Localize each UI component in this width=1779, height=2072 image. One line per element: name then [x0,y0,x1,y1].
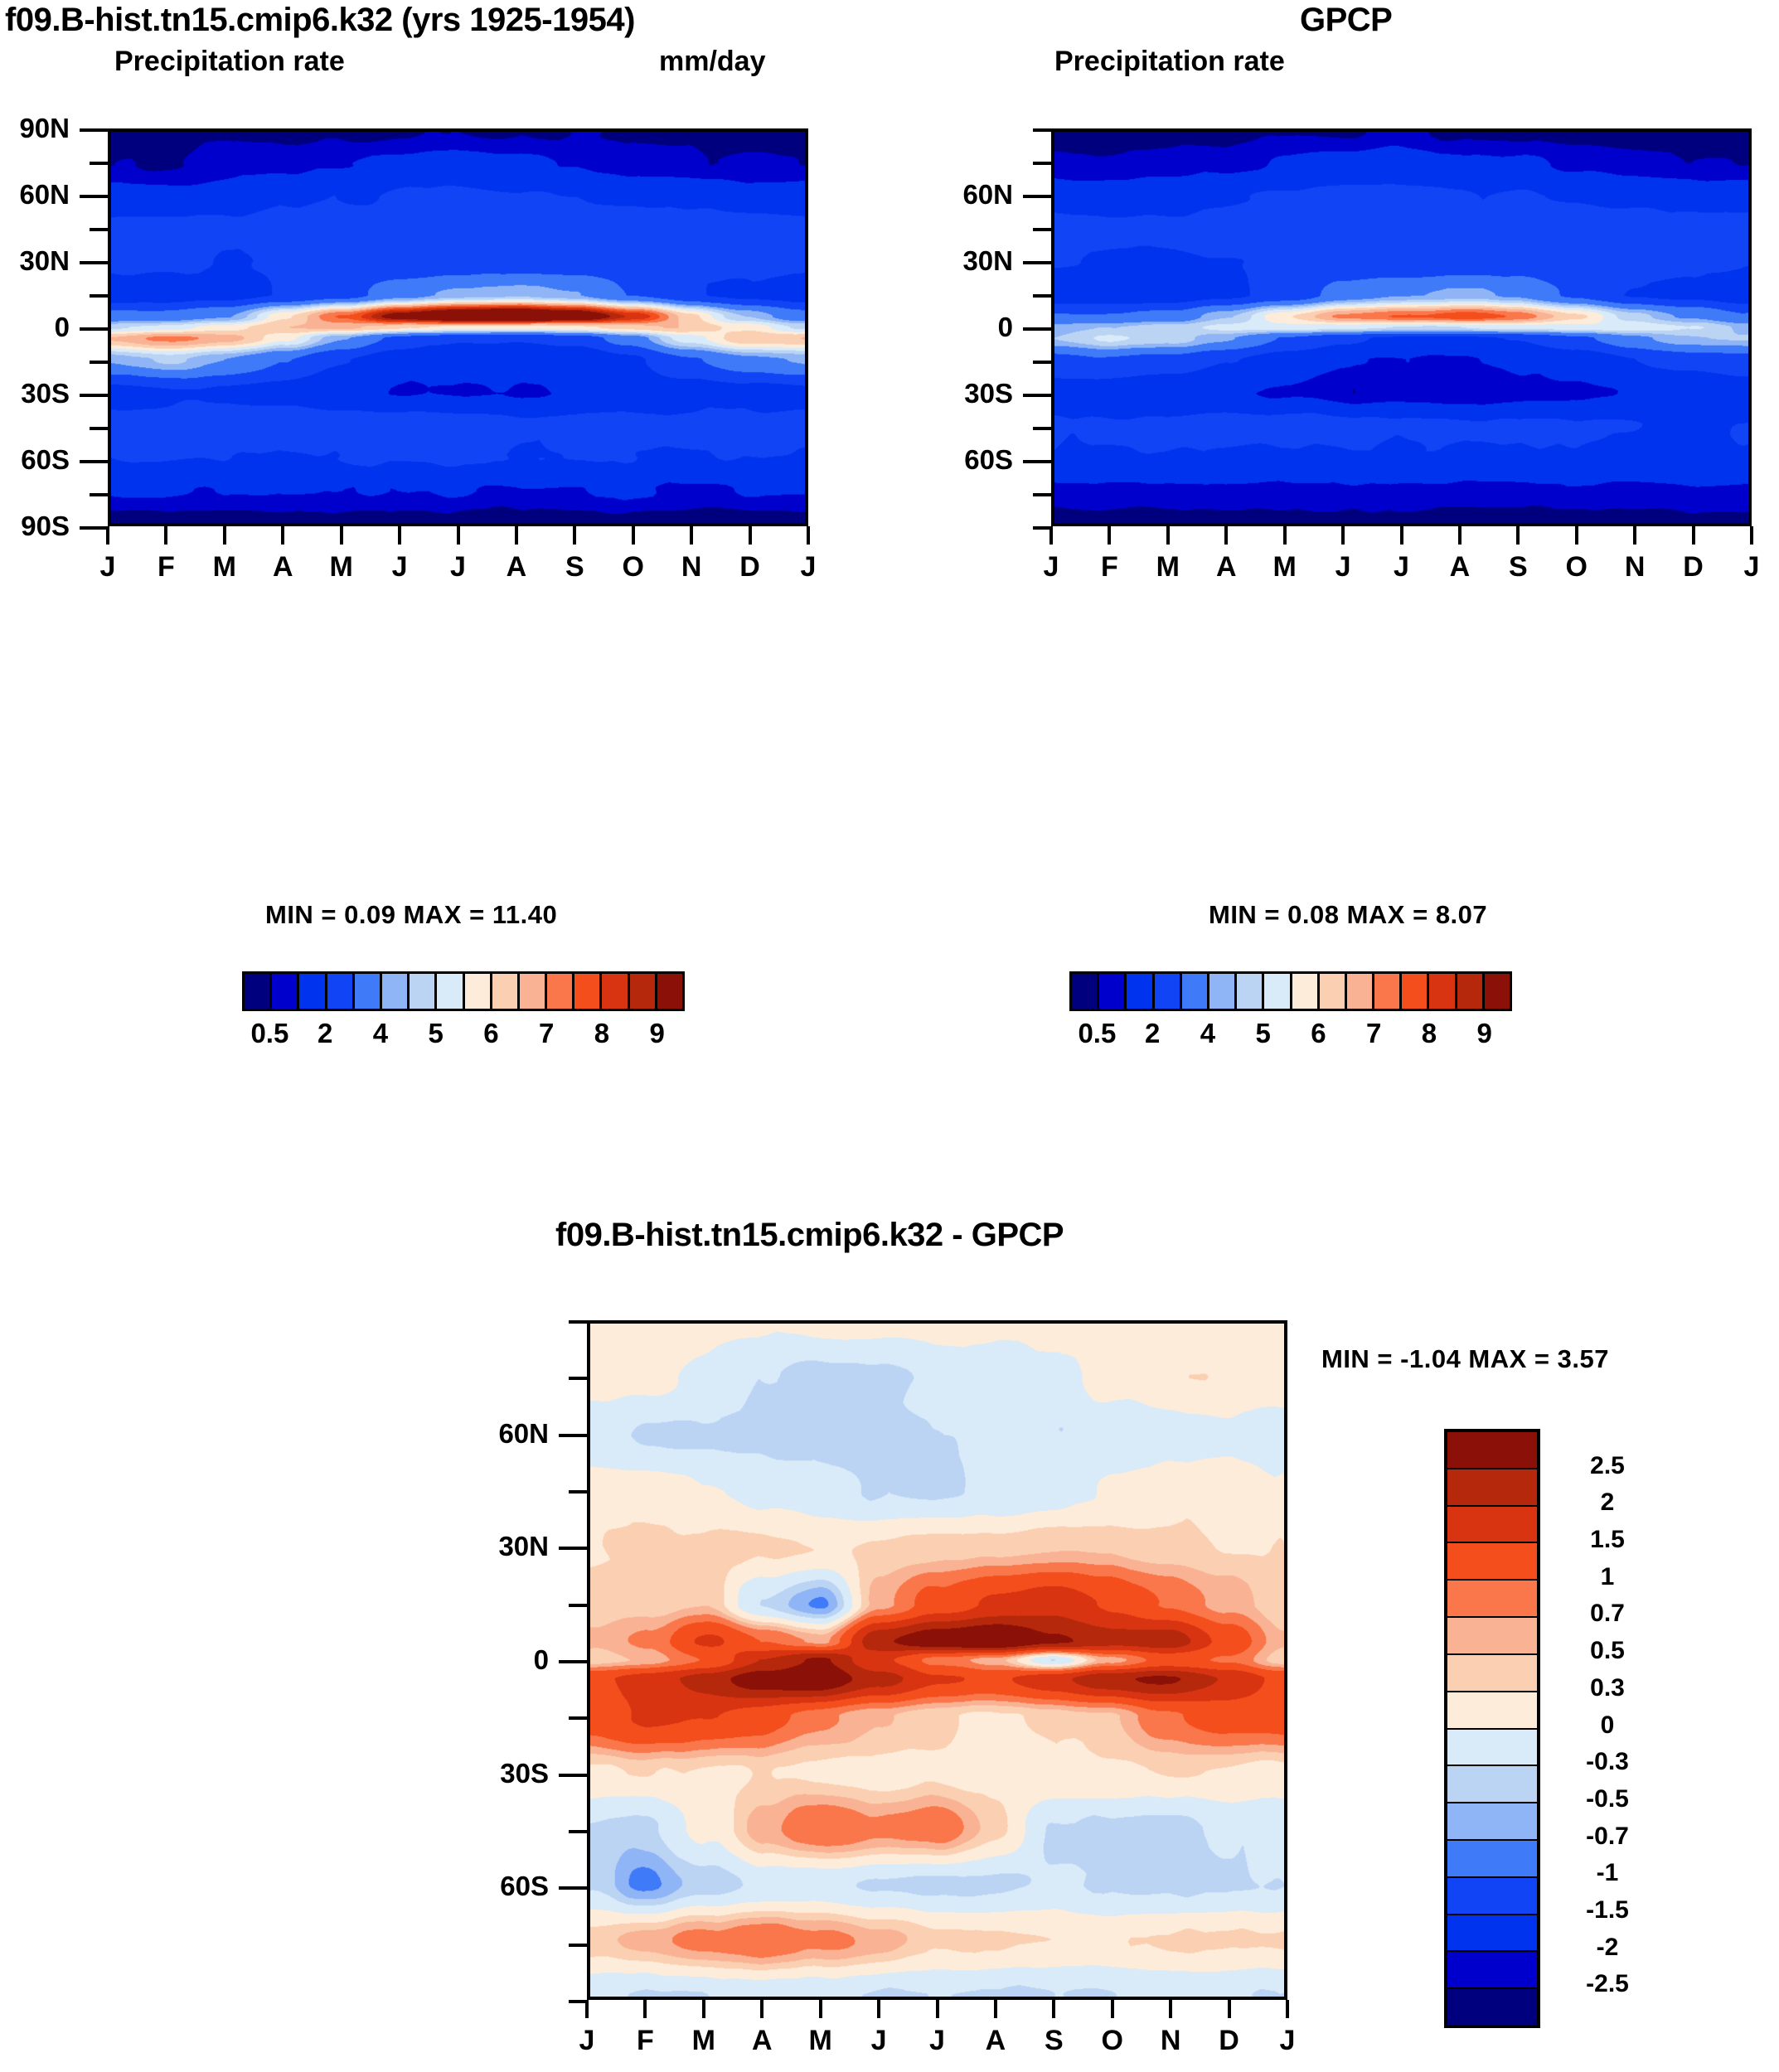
colorbar-swatch [1099,974,1127,1009]
model-minmax-label: MIN = 0.09 MAX = 11.40 [265,900,557,930]
x-axis-label: A [273,551,293,583]
x-axis-tick [223,526,226,545]
y-axis-tick [569,1490,587,1493]
colorbar-swatch [1447,1952,1537,1989]
y-axis-tick [569,1377,587,1380]
x-axis-label: D [739,551,760,583]
colorbar-swatch [492,974,520,1009]
y-axis-label: 60N [19,179,70,211]
y-axis-tick [1033,493,1051,496]
y-axis-label: 60S [21,444,70,476]
x-axis-label: J [450,551,466,583]
colorbar-swatch [630,974,657,1009]
colorbar-swatch [1292,974,1320,1009]
x-axis-label: J [801,551,817,583]
x-axis-label: F [1101,551,1118,583]
x-axis-tick [1516,526,1520,545]
x-axis-label: N [1625,551,1646,583]
diff-panel-title: f09.B-hist.tn15.cmip6.k32 - GPCP [555,1217,1064,1254]
colorbar-swatch [327,974,355,1009]
colorbar-tick-label: -1 [1597,1859,1619,1887]
colorbar-swatch [1447,1841,1537,1878]
y-axis-tick [559,1547,587,1550]
x-axis-label: J [579,2025,595,2057]
y-axis-tick [90,361,108,364]
y-axis-tick [1023,394,1051,397]
colorbar-swatch [1320,974,1347,1009]
colorbar-tick-label: 9 [1476,1018,1491,1049]
y-axis-tick [1033,294,1051,298]
colorbar-tick-label: 4 [1200,1018,1215,1049]
y-axis-tick [1023,327,1051,331]
y-axis-tick [80,128,108,132]
x-axis-label: A [1450,551,1471,583]
x-axis-tick [585,2000,589,2018]
precip-colorbar-model [242,971,685,1011]
colorbar-swatch [602,974,629,1009]
model-panel-title: f09.B-hist.tn15.cmip6.k32 (yrs 1925-1954… [5,2,635,39]
colorbar-swatch [1447,1730,1537,1767]
colorbar-tick-label: 0.3 [1590,1674,1625,1702]
y-axis-tick [1033,228,1051,231]
y-axis-label: 0 [55,312,70,343]
colorbar-swatch [1429,974,1457,1009]
x-axis-tick [807,526,810,545]
x-axis-label: F [158,551,175,583]
model-axes: 90N60N30N030S60S90SJFMAMJJASONDJ [108,128,808,526]
x-axis-tick [1633,526,1636,545]
colorbar-swatch [520,974,547,1009]
colorbar-swatch [1485,974,1510,1009]
x-axis-tick [573,526,576,545]
x-axis-tick [1458,526,1461,545]
x-axis-tick [1166,526,1170,545]
y-axis-tick [90,228,108,231]
y-axis-label: 30S [21,378,70,409]
y-axis-tick [559,1434,587,1437]
x-axis-label: O [1102,2025,1123,2057]
colorbar-tick-label: 5 [1255,1018,1270,1049]
colorbar-swatch [547,974,574,1009]
x-axis-label: J [1044,551,1059,583]
x-axis-label: J [871,2025,887,2057]
y-axis-tick [80,394,108,397]
x-axis-label: A [986,2025,1006,2057]
colorbar-tick-label: 9 [649,1018,664,1049]
y-axis-label: 60N [962,179,1013,211]
x-axis-tick [1341,526,1345,545]
colorbar-swatch [1264,974,1292,1009]
y-axis-label: 90N [19,113,70,144]
x-axis-label: A [507,551,527,583]
obs-panel-subtitle: Precipitation rate [1054,46,1285,78]
y-axis-label: 0 [998,312,1013,343]
diff-colorbar [1444,1429,1540,2028]
x-axis-label: O [623,551,644,583]
y-axis-label: 30S [500,1758,549,1789]
colorbar-swatch [410,974,437,1009]
x-axis-tick [936,2000,939,2018]
y-axis-tick [80,261,108,264]
x-axis-tick [1283,526,1287,545]
y-axis-tick [80,460,108,463]
colorbar-tick-label: -1.5 [1586,1896,1629,1924]
x-axis-label: D [1219,2025,1239,2057]
x-axis-tick [819,2000,822,2018]
obs-panel-title: GPCP [1300,2,1392,39]
colorbar-swatch [355,974,382,1009]
x-axis-tick [1575,526,1578,545]
colorbar-tick-label: 2 [1145,1018,1160,1049]
y-axis-tick [90,162,108,165]
x-axis-label: M [808,2025,831,2057]
precip-colorbar-obs-labels: 0.52456789 [1069,1018,1512,1054]
y-axis-tick [80,195,108,198]
colorbar-tick-label: 2.5 [1590,1452,1625,1480]
colorbar-swatch [1447,1655,1537,1692]
y-axis-tick [1033,361,1051,364]
y-axis-tick [569,1604,587,1607]
colorbar-swatch [1447,1469,1537,1507]
colorbar-swatch [1237,974,1264,1009]
colorbar-tick-label: -0.7 [1586,1823,1629,1851]
colorbar-tick-label: 5 [428,1018,443,1049]
y-axis-tick [559,1774,587,1777]
y-axis-tick [90,294,108,298]
x-axis-tick [643,2000,647,2018]
x-axis-tick [1108,526,1111,545]
x-axis-label: S [565,551,584,583]
colorbar-swatch [1447,1989,1537,2025]
obs-minmax-label: MIN = 0.08 MAX = 8.07 [1209,900,1487,930]
colorbar-swatch [1127,974,1154,1009]
colorbar-tick-label: 0.7 [1590,1600,1625,1628]
x-axis-tick [398,526,401,545]
colorbar-swatch [1457,974,1485,1009]
colorbar-tick-label: -0.5 [1586,1785,1629,1813]
y-axis-tick [1033,128,1051,132]
colorbar-swatch [1072,974,1099,1009]
y-axis-label: 60N [498,1418,549,1450]
model-panel-subtitle: Precipitation rate [114,46,345,78]
diff-colorbar-labels: 2.521.510.70.50.30-0.3-0.5-0.7-1-1.5-2-2… [1537,1429,1678,2021]
colorbar-tick-label: 0.5 [1590,1637,1625,1665]
x-axis-tick [632,526,635,545]
y-axis-tick [569,1320,587,1324]
colorbar-tick-label: 0.5 [250,1018,288,1049]
x-axis-label: M [329,551,352,583]
x-axis-tick [1400,526,1403,545]
colorbar-tick-label: 2 [318,1018,332,1049]
colorbar-tick-label: 6 [483,1018,498,1049]
colorbar-tick-label: 8 [594,1018,609,1049]
colorbar-tick-label: 4 [373,1018,388,1049]
colorbar-tick-label: -0.3 [1586,1748,1629,1776]
colorbar-swatch [1447,1803,1537,1841]
x-axis-tick [1224,526,1228,545]
x-axis-tick [1692,526,1695,545]
x-axis-tick [994,2000,997,2018]
colorbar-swatch [1347,974,1374,1009]
y-axis-label: 60S [500,1871,549,1902]
y-axis-tick [90,493,108,496]
colorbar-tick-label: 7 [1366,1018,1381,1049]
y-axis-label: 30S [964,378,1013,409]
x-axis-tick [281,526,284,545]
colorbar-swatch [1209,974,1237,1009]
colorbar-tick-label: 1.5 [1590,1526,1625,1554]
colorbar-swatch [437,974,464,1009]
precip-colorbar-model-labels: 0.52456789 [242,1018,685,1054]
diff-axes: 60N30N030S60SJFMAMJJASONDJ [587,1320,1287,2000]
x-axis-tick [340,526,343,545]
x-axis-tick [457,526,460,545]
y-axis-tick [1033,427,1051,430]
colorbar-swatch [299,974,327,1009]
y-axis-tick [569,1716,587,1720]
diff-minmax-label: MIN = -1.04 MAX = 3.57 [1321,1344,1609,1374]
colorbar-swatch [1447,1766,1537,1803]
x-axis-label: M [692,2025,715,2057]
x-axis-label: M [1272,551,1296,583]
x-axis-label: J [1280,2025,1296,2057]
x-axis-tick [877,2000,880,2018]
y-axis-tick [559,1886,587,1890]
x-axis-label: J [100,551,116,583]
colorbar-swatch [1447,1692,1537,1730]
colorbar-swatch [1374,974,1402,1009]
y-axis-tick [1023,195,1051,198]
y-axis-tick [80,526,108,530]
x-axis-tick [106,526,109,545]
x-axis-label: S [1045,2025,1064,2057]
x-axis-label: D [1683,551,1704,583]
y-axis-label: 0 [534,1644,549,1676]
x-axis-label: J [392,551,408,583]
x-axis-tick [1286,2000,1289,2018]
colorbar-tick-label: 8 [1422,1018,1437,1049]
x-axis-label: J [1335,551,1351,583]
colorbar-tick-label: 7 [539,1018,554,1049]
y-axis-label: 60S [964,444,1013,476]
x-axis-label: M [1156,551,1180,583]
colorbar-swatch [245,974,272,1009]
y-axis-tick [1023,261,1051,264]
colorbar-tick-label: 2 [1601,1489,1615,1517]
x-axis-label: N [681,551,702,583]
y-axis-label: 90S [21,511,70,542]
x-axis-label: J [929,2025,945,2057]
x-axis-tick [515,526,518,545]
x-axis-label: N [1161,2025,1181,2057]
y-axis-label: 30N [498,1531,549,1562]
colorbar-tick-label: 0 [1601,1711,1615,1740]
x-axis-tick [1049,526,1053,545]
colorbar-swatch [465,974,492,1009]
x-axis-label: F [637,2025,654,2057]
y-axis-tick [569,1830,587,1833]
colorbar-swatch [1182,974,1209,1009]
x-axis-label: O [1566,551,1588,583]
colorbar-swatch [574,974,602,1009]
y-axis-tick [569,2000,587,2003]
y-axis-tick [569,1944,587,1947]
x-axis-tick [1052,2000,1055,2018]
colorbar-swatch [1447,1878,1537,1915]
x-axis-tick [690,526,693,545]
colorbar-swatch [1447,1581,1537,1618]
x-axis-tick [1228,2000,1231,2018]
y-axis-label: 30N [19,245,70,277]
colorbar-tick-label: -2.5 [1586,1970,1629,1998]
colorbar-tick-label: 6 [1311,1018,1326,1049]
x-axis-tick [702,2000,705,2018]
colorbar-swatch [1402,974,1429,1009]
colorbar-swatch [1155,974,1182,1009]
x-axis-tick [1169,2000,1172,2018]
colorbar-tick-label: 0.5 [1078,1018,1116,1049]
obs-axes: 60N30N030S60SJFMAMJJASONDJ [1051,128,1752,526]
y-axis-tick [1033,526,1051,530]
x-axis-tick [164,526,167,545]
model-panel-units: mm/day [659,46,766,78]
colorbar-swatch [1447,1618,1537,1655]
x-axis-tick [749,526,752,545]
y-axis-tick [1023,460,1051,463]
y-axis-label: 30N [962,245,1013,277]
colorbar-swatch [1447,1915,1537,1953]
x-axis-label: M [213,551,236,583]
x-axis-label: S [1509,551,1528,583]
x-axis-label: A [1216,551,1237,583]
colorbar-tick-label: -2 [1597,1934,1619,1962]
x-axis-tick [1111,2000,1114,2018]
y-axis-tick [80,327,108,331]
x-axis-label: J [1744,551,1760,583]
x-axis-label: J [1394,551,1409,583]
x-axis-tick [1750,526,1753,545]
colorbar-swatch [1447,1543,1537,1581]
y-axis-tick [90,427,108,430]
colorbar-swatch [1447,1507,1537,1544]
colorbar-swatch [382,974,410,1009]
y-axis-tick [1033,162,1051,165]
colorbar-swatch [657,974,682,1009]
colorbar-swatch [272,974,299,1009]
x-axis-tick [760,2000,763,2018]
y-axis-tick [559,1660,587,1663]
colorbar-swatch [1447,1432,1537,1469]
colorbar-tick-label: 1 [1601,1563,1615,1591]
precip-colorbar-obs [1069,971,1512,1011]
x-axis-label: A [752,2025,773,2057]
